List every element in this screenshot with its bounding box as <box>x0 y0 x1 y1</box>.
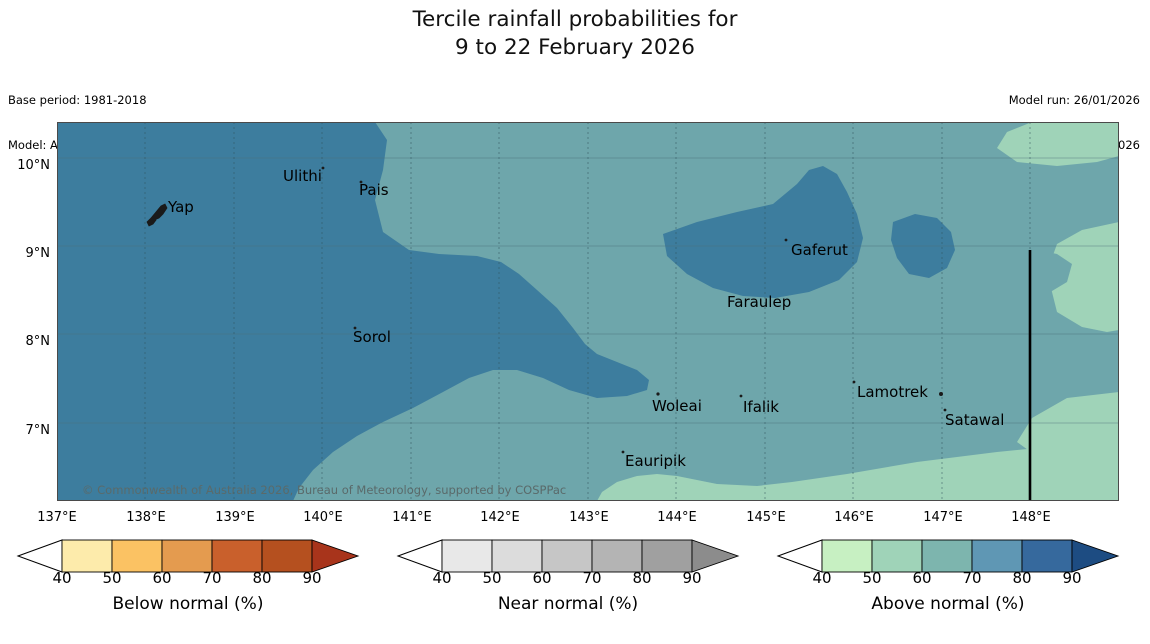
colorbar1-tick-60: 60 <box>142 569 182 587</box>
colorbar-seg-50 <box>112 540 162 572</box>
xtick-label-5: 142°E <box>465 510 535 525</box>
colorbar-seg-80 <box>642 540 692 572</box>
dot-ulithi <box>322 167 325 170</box>
xtick-label-11: 148°E <box>996 510 1066 525</box>
colorbar1-title: Below normal (%) <box>8 594 368 614</box>
title-line-2: 9 to 22 February 2026 <box>0 34 1150 62</box>
dot-pais <box>360 181 363 184</box>
xtick-label-10: 147°E <box>908 510 978 525</box>
dot-lamotrek <box>853 381 856 384</box>
forecast-map[interactable]: Yap Ulithi Pais Sorol Gaferut Faraulep W… <box>57 122 1119 501</box>
colorbar-seg-80 <box>1022 540 1072 572</box>
colorbar-left-arrow <box>18 540 62 572</box>
ytick-label-3: 7°N <box>4 423 50 438</box>
xtick-label-2: 139°E <box>200 510 270 525</box>
dot-ifalik <box>740 395 743 398</box>
colorbar-below-normal[interactable]: 40 50 60 70 80 90 Below normal (%) <box>8 534 368 638</box>
xtick-label-8: 145°E <box>731 510 801 525</box>
colorbar2-tick-60: 60 <box>522 569 562 587</box>
colorbar2-tick-70: 70 <box>572 569 612 587</box>
xtick-label-4: 141°E <box>377 510 447 525</box>
colorbar-seg-50 <box>872 540 922 572</box>
colorbar2-title: Near normal (%) <box>388 594 748 614</box>
colorbar3-tick-70: 70 <box>952 569 992 587</box>
model-run-text: Model run: 26/01/2026 <box>1009 93 1140 108</box>
dot-satawal-b <box>944 409 947 412</box>
colorbar-seg-60 <box>542 540 592 572</box>
ytick-label-1: 9°N <box>4 246 50 261</box>
colorbar-seg-80 <box>262 540 312 572</box>
colorbar-left-arrow <box>398 540 442 572</box>
colorbar2-tick-80: 80 <box>622 569 662 587</box>
colorbar-seg-40 <box>442 540 492 572</box>
colorbar2-tick-90: 90 <box>672 569 712 587</box>
colorbar-seg-40 <box>62 540 112 572</box>
colorbar-right-arrow <box>312 540 358 572</box>
xtick-label-6: 143°E <box>554 510 624 525</box>
xtick-label-3: 140°E <box>288 510 358 525</box>
title-line-1: Tercile rainfall probabilities for <box>0 6 1150 34</box>
colorbar-seg-70 <box>592 540 642 572</box>
colorbar3-title: Above normal (%) <box>768 594 1128 614</box>
colorbar1-tick-90: 90 <box>292 569 332 587</box>
colorbar-right-arrow <box>1072 540 1118 572</box>
colorbar2-tick-40: 40 <box>422 569 462 587</box>
colorbar2-tick-50: 50 <box>472 569 512 587</box>
colorbar-seg-70 <box>212 540 262 572</box>
colorbar3-tick-80: 80 <box>1002 569 1042 587</box>
colorbar-right-arrow <box>692 540 738 572</box>
xtick-label-7: 144°E <box>642 510 712 525</box>
colorbar-seg-60 <box>922 540 972 572</box>
xtick-label-1: 138°E <box>111 510 181 525</box>
map-contour-svg <box>57 122 1119 501</box>
xtick-label-0: 137°E <box>22 510 92 525</box>
copyright-text: © Commonwealth of Australia 2026, Bureau… <box>82 483 566 497</box>
colorbar-left-arrow <box>778 540 822 572</box>
colorbar-near-normal[interactable]: 40 50 60 70 80 90 Near normal (%) <box>388 534 748 638</box>
colorbar-seg-60 <box>162 540 212 572</box>
dot-woleai <box>656 392 659 395</box>
ytick-label-0: 10°N <box>4 158 50 173</box>
page-title: Tercile rainfall probabilities for 9 to … <box>0 6 1150 62</box>
colorbar3-tick-90: 90 <box>1052 569 1092 587</box>
tercile-rainfall-forecast-page: Tercile rainfall probabilities for 9 to … <box>0 0 1150 644</box>
dot-satawal-a <box>939 392 943 396</box>
ytick-label-2: 8°N <box>4 334 50 349</box>
xtick-label-9: 146°E <box>819 510 889 525</box>
colorbar-seg-50 <box>492 540 542 572</box>
colorbar-seg-40 <box>822 540 872 572</box>
dot-eauripik <box>622 451 625 454</box>
colorbar1-tick-70: 70 <box>192 569 232 587</box>
colorbar1-tick-50: 50 <box>92 569 132 587</box>
colorbar-above-normal[interactable]: 40 50 60 70 80 90 Above normal (%) <box>768 534 1128 638</box>
colorbar3-tick-60: 60 <box>902 569 942 587</box>
colorbar1-tick-40: 40 <box>42 569 82 587</box>
dot-sorol <box>354 327 357 330</box>
base-period-text: Base period: 1981-2018 <box>8 93 147 108</box>
dot-gaferut <box>785 239 788 242</box>
colorbar1-tick-80: 80 <box>242 569 282 587</box>
colorbar3-tick-50: 50 <box>852 569 892 587</box>
colorbar3-tick-40: 40 <box>802 569 842 587</box>
colorbar-seg-70 <box>972 540 1022 572</box>
